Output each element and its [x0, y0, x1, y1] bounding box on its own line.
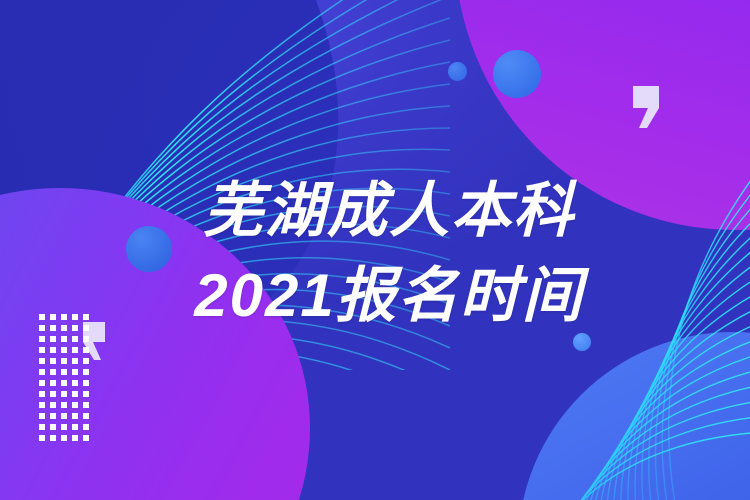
- banner-headline: 芜湖成人本科 2021报名时间: [0, 0, 750, 500]
- promo-banner: 芜湖成人本科 2021报名时间: [0, 0, 750, 500]
- headline-line-2: 2021报名时间: [194, 253, 583, 338]
- headline-line-1: 芜湖成人本科: [203, 168, 575, 253]
